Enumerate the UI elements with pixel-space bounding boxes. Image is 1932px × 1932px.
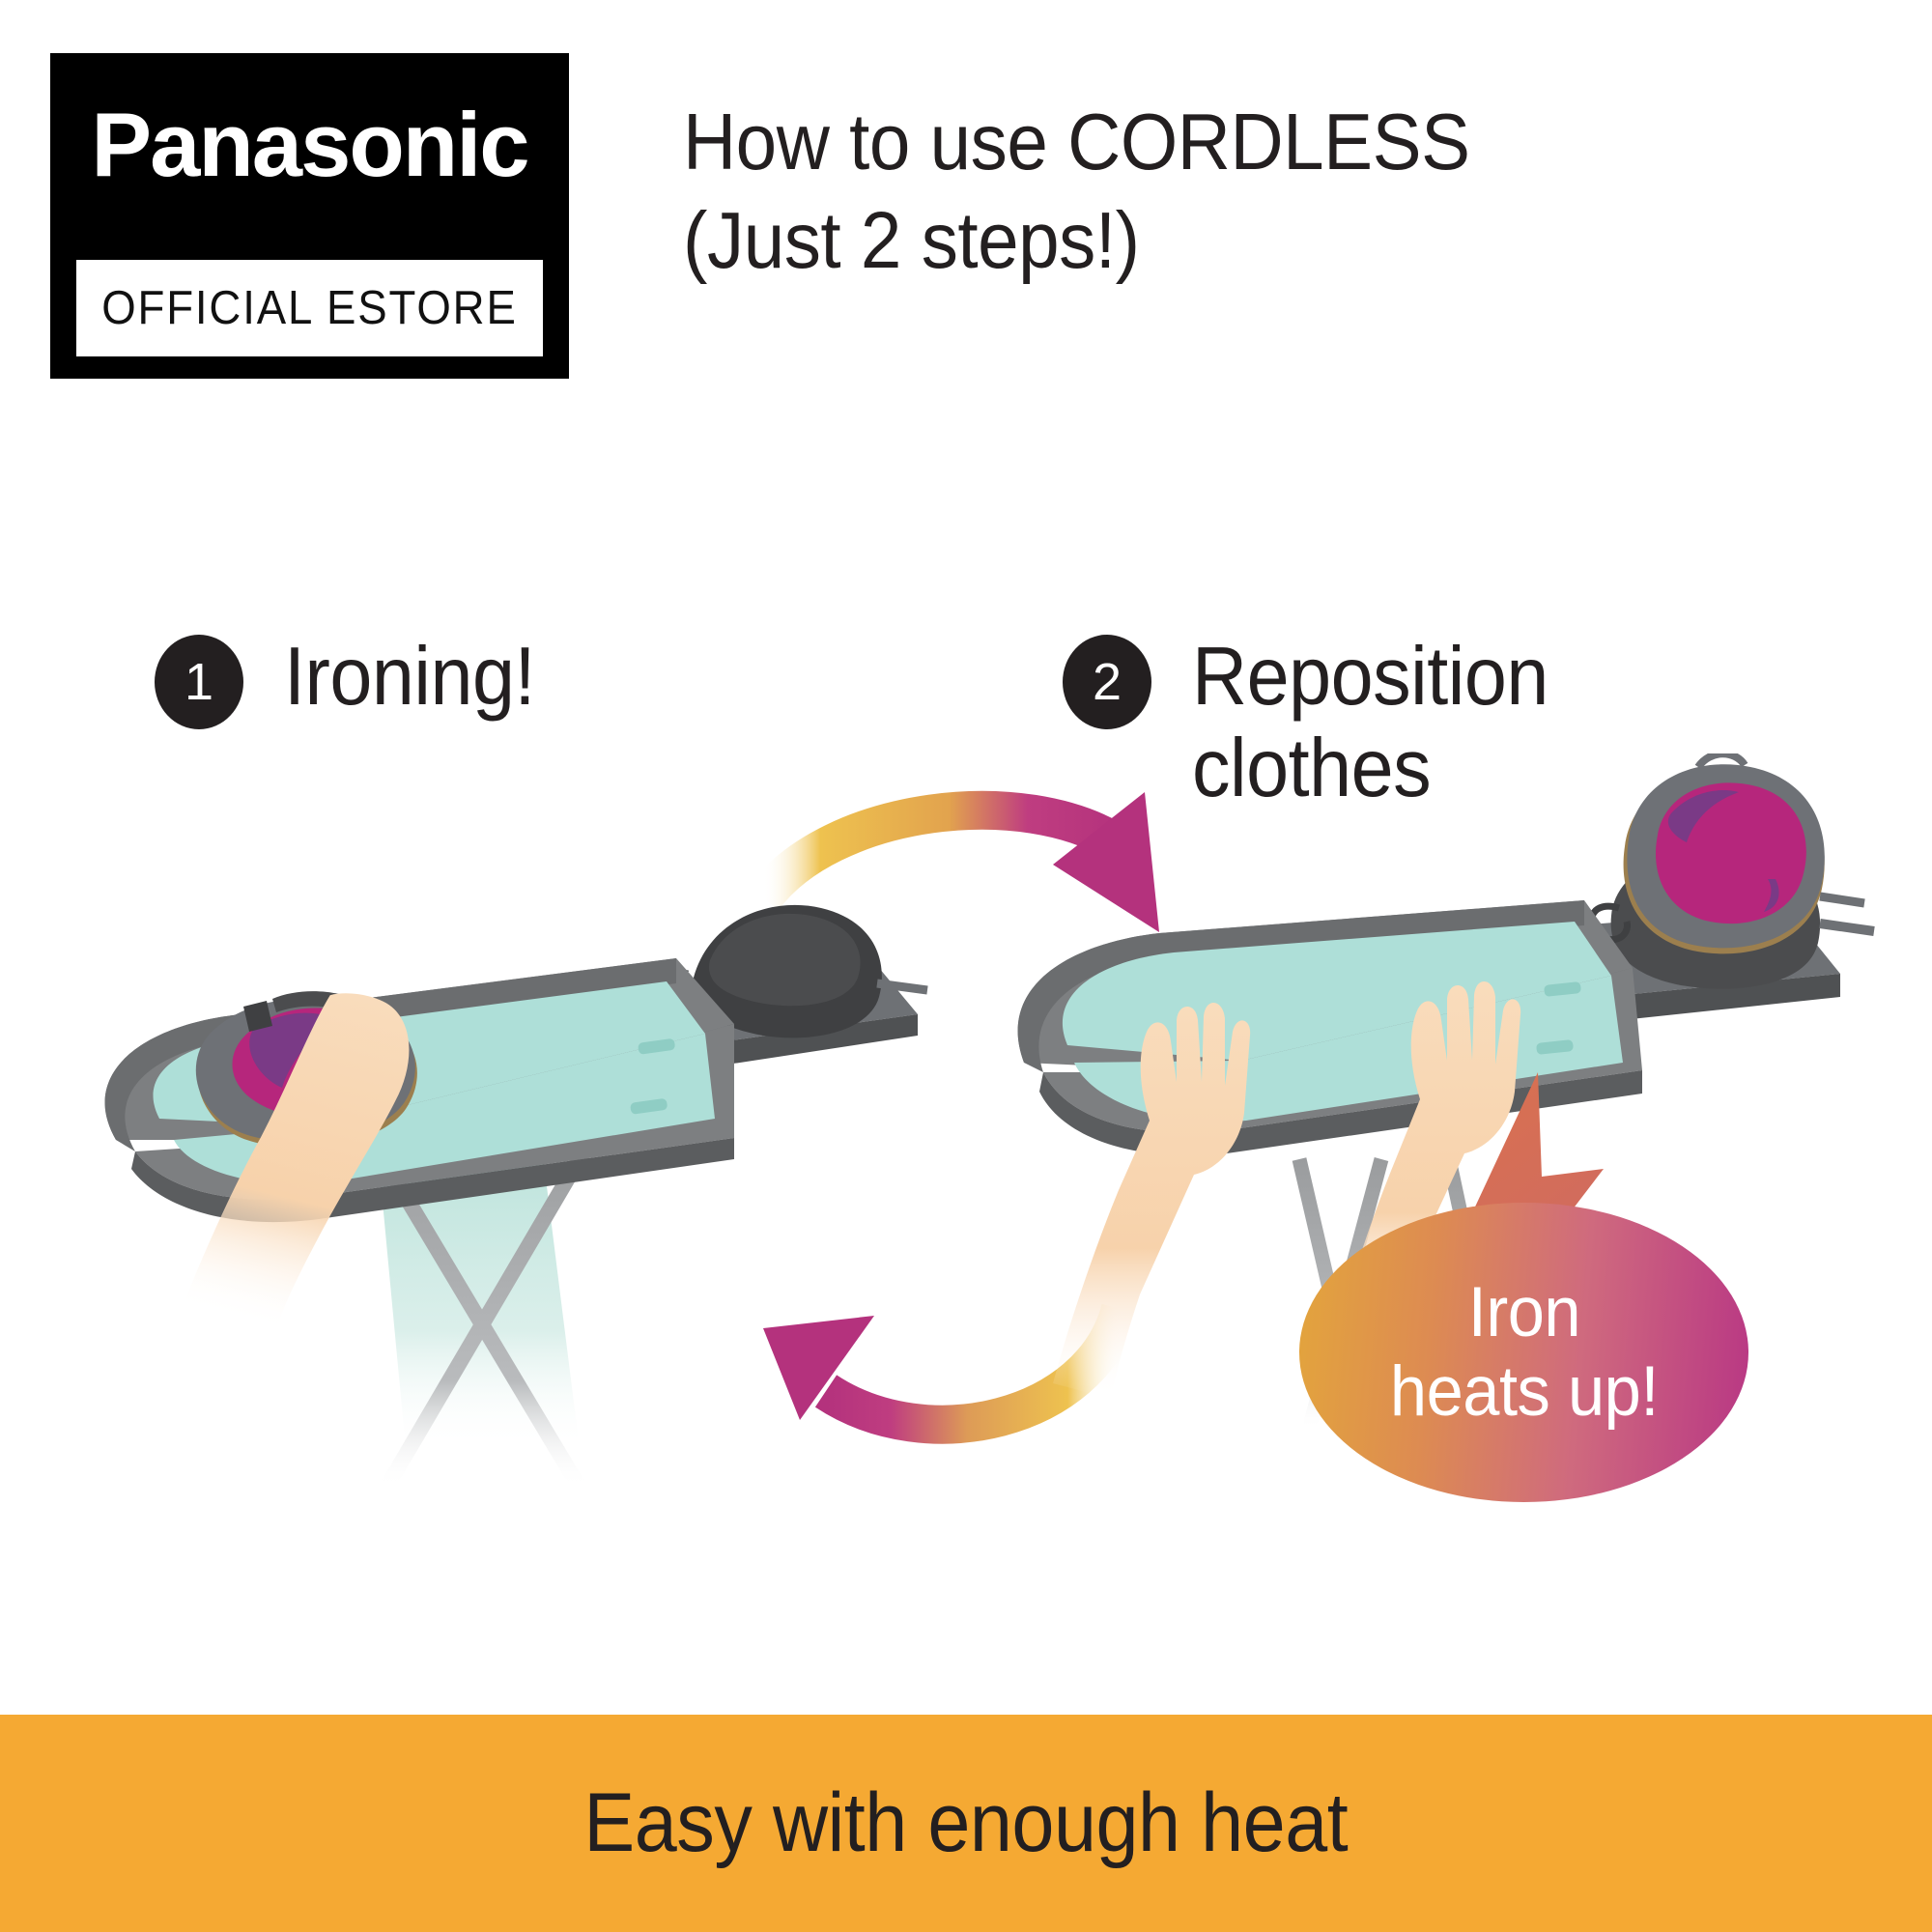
page-title: How to use CORDLESS (Just 2 steps!) <box>683 93 1776 290</box>
iron-heats-up-callout: Iron heats up! <box>1299 1203 1748 1502</box>
bottom-banner: Easy with enough heat <box>0 1715 1932 1932</box>
official-estore-label: OFFICIAL ESTORE <box>101 281 518 335</box>
step-1-number-badge: 1 <box>155 635 243 729</box>
step-1-label: Ironing! <box>284 631 535 723</box>
page-title-line-1: How to use CORDLESS <box>683 93 1776 191</box>
panasonic-logo: Panasonic OFFICIAL ESTORE <box>50 53 569 379</box>
infographic-root: Panasonic OFFICIAL ESTORE How to use COR… <box>0 0 1932 1932</box>
official-estore-badge: OFFICIAL ESTORE <box>76 260 543 356</box>
step-1-header: 1 Ironing! <box>155 631 554 729</box>
brand-wordmark: Panasonic <box>50 99 569 190</box>
callout-text: Iron heats up! <box>1389 1273 1658 1432</box>
banner-text: Easy with enough heat <box>584 1776 1349 1871</box>
page-title-line-2: (Just 2 steps!) <box>683 191 1776 290</box>
step-2-number-badge: 2 <box>1063 635 1151 729</box>
